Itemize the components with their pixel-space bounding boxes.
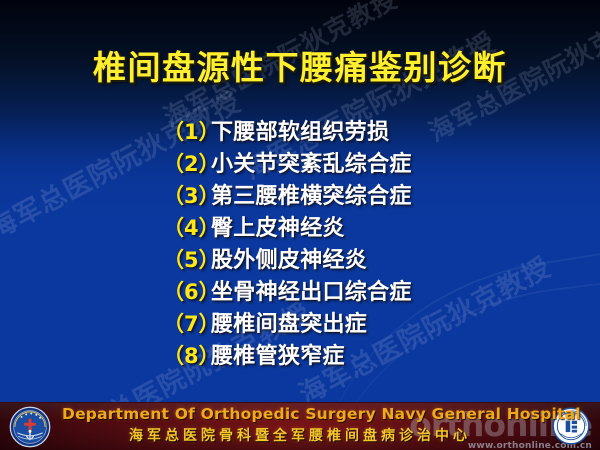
list-item: （6） 坐骨神经出口综合症	[163, 274, 563, 306]
list-item-marker: （4）	[163, 212, 211, 242]
slide-title: 椎间盘源性下腰痛鉴别诊断	[0, 41, 600, 89]
list-item: （3） 第三腰椎横突综合症	[163, 178, 563, 210]
slide-canvas: 海军总医院阮狄克教授 海军总医院阮狄克教授 海军总医院阮狄克教授 海军总医院阮狄…	[0, 0, 600, 450]
list-item: （8） 腰椎管狭窄症	[163, 338, 563, 370]
list-item: （7） 腰椎间盘突出症	[163, 306, 563, 338]
list-item-marker: （6）	[163, 276, 211, 306]
footer-bar: orthonline www.orthonline.com.cn	[0, 402, 600, 450]
list-item-label: 第三腰椎横突综合症	[211, 178, 412, 210]
list-item-label: 股外侧皮神经炎	[211, 242, 367, 274]
list-item-marker: （5）	[163, 244, 211, 274]
list-item-marker: （8）	[163, 340, 211, 370]
list-item-label: 小关节突紊乱综合症	[211, 146, 412, 178]
list-item-label: 臀上皮神经炎	[211, 210, 345, 242]
list-item-label: 腰椎间盘突出症	[211, 306, 367, 338]
list-item-label: 坐骨神经出口综合症	[211, 274, 412, 306]
footer-text-block: Department Of Orthopedic Surgery Navy Ge…	[62, 405, 538, 445]
list-item: （1） 下腰部软组织劳损	[163, 114, 563, 146]
list-item: （2） 小关节突紊乱综合症	[163, 146, 563, 178]
list-item-marker: （3）	[163, 180, 211, 210]
diagnosis-list: （1） 下腰部软组织劳损 （2） 小关节突紊乱综合症 （3） 第三腰椎横突综合症…	[163, 114, 563, 370]
list-item-marker: （1）	[163, 116, 211, 146]
list-item-label: 腰椎管狭窄症	[211, 338, 345, 370]
list-item: （5） 股外侧皮神经炎	[163, 242, 563, 274]
footer-chinese-title: 海军总医院骨科暨全军腰椎间盘病诊治中心	[62, 425, 538, 445]
list-item-label: 下腰部软组织劳损	[211, 114, 389, 146]
list-item: （4） 臀上皮神经炎	[163, 210, 563, 242]
list-item-marker: （7）	[163, 308, 211, 338]
list-item-marker: （2）	[163, 148, 211, 178]
navy-medical-emblem-icon	[9, 406, 51, 448]
footer-english-title: Department Of Orthopedic Surgery Navy Ge…	[62, 405, 538, 423]
